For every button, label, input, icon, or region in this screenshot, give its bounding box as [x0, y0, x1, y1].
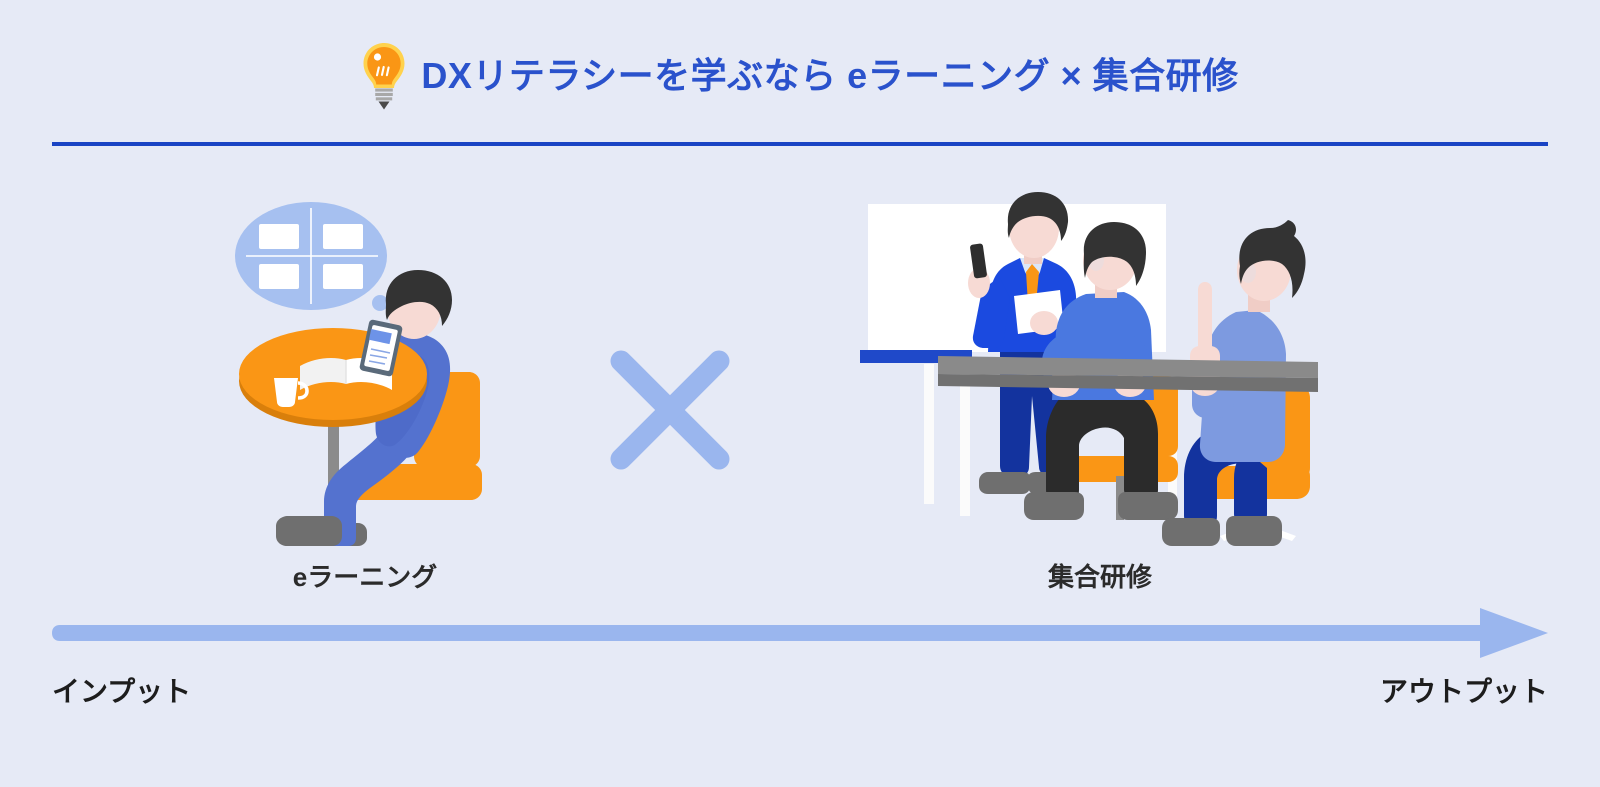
right-shoe-left: [1162, 518, 1220, 546]
header: DXリテラシーを学ぶなら eラーニング × 集合研修: [0, 36, 1600, 116]
right-person-pointing-finger: [1198, 282, 1212, 352]
middle-shoe-left: [1024, 492, 1084, 520]
caption-elearning: eラーニング: [190, 557, 540, 594]
page-title: DXリテラシーを学ぶなら eラーニング × 集合研修: [421, 58, 1238, 94]
caption-group-training: 集合研修: [935, 557, 1265, 594]
middle-shoe-right: [1118, 492, 1178, 520]
coffee-mug: [274, 378, 298, 407]
right-shoe-right: [1226, 516, 1282, 546]
table-leg-front-left: [924, 364, 934, 504]
lightbulb-icon: [361, 41, 407, 111]
multiply-cross-icon: [595, 335, 745, 485]
infographic-canvas: DXリテラシーを学ぶなら eラーニング × 集合研修: [0, 0, 1600, 787]
table-leg-back-left: [960, 364, 970, 516]
presenter-hand: [1030, 311, 1058, 335]
right-arrow-icon: [52, 605, 1552, 661]
middle-person-legs: [1046, 396, 1158, 500]
group-training-illustration: [848, 186, 1354, 546]
axis-label-output: アウトプット: [1380, 670, 1548, 710]
presenter-shoe-left: [979, 472, 1030, 494]
thought-bubble-dot-large: [372, 295, 388, 311]
header-divider-rule: [52, 142, 1548, 146]
axis-label-input: インプット: [52, 670, 191, 710]
elearning-illustration: [228, 186, 518, 546]
person-shoe: [276, 516, 342, 546]
